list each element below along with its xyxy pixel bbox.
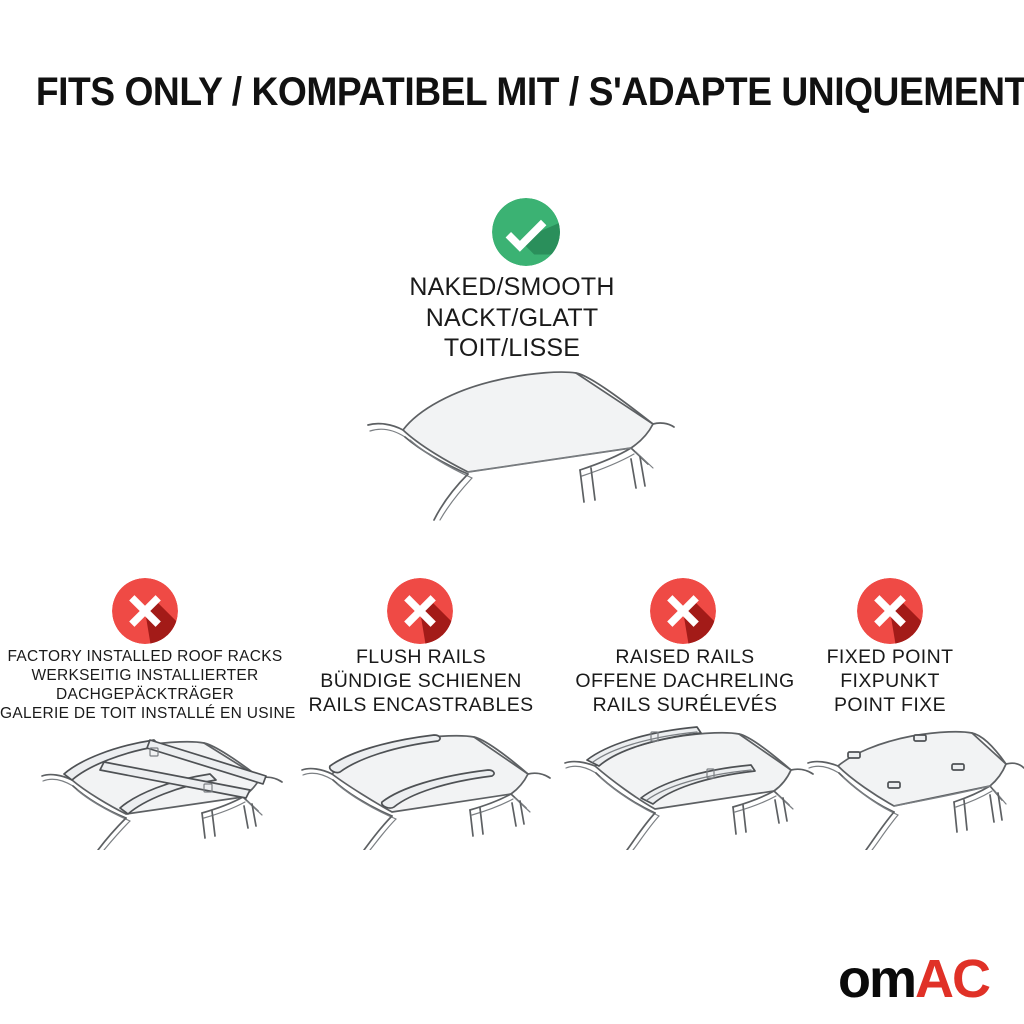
page-title: FITS ONLY / KOMPATIBEL MIT / S'ADAPTE UN… [36,70,988,115]
logo-text-om: om [838,949,915,1009]
caption-line-fr: POINT FIXE [800,694,980,718]
car-roof-raised-rails-illustration [557,722,825,850]
x-circle-icon [650,578,716,644]
caption-flush-rails: FLUSH RAILS BÜNDIGE SCHIENEN RAILS ENCAS… [290,646,552,717]
logo-text-ac: AC [915,949,989,1009]
car-roof-factory-racks-illustration [22,722,290,850]
caption-line-en: FACTORY INSTALLED ROOF RACKS [0,648,290,667]
caption-line-en: NAKED/SMOOTH [0,272,1024,303]
x-circle-icon [387,578,453,644]
caption-line-de2: DACHGEPÄCKTRÄGER [0,686,290,705]
caption-line-de: NACKT/GLATT [0,303,1024,334]
caption-line-de: FIXPUNKT [800,670,980,694]
caption-line-en: FLUSH RAILS [290,646,552,670]
caption-raised-rails: RAISED RAILS OFFENE DACHRELING RAILS SUR… [550,646,820,717]
car-roof-fixed-point-illustration [802,722,1024,850]
caption-line-de1: WERKSEITIG INSTALLIERTER [0,667,290,686]
caption-line-fr: GALERIE DE TOIT INSTALLÉ EN USINE [0,705,290,724]
caption-factory-installed-roof-racks: FACTORY INSTALLED ROOF RACKS WERKSEITIG … [0,648,290,724]
car-roof-flush-rails-illustration [292,722,560,850]
caption-line-de: BÜNDIGE SCHIENEN [290,670,552,694]
caption-line-de: OFFENE DACHRELING [550,670,820,694]
caption-line-fr: TOIT/LISSE [0,333,1024,364]
caption-line-en: RAISED RAILS [550,646,820,670]
car-roof-naked-smooth-illustration [348,362,682,522]
caption-line-fr: RAILS ENCASTRABLES [290,694,552,718]
caption-line-en: FIXED POINT [800,646,980,670]
caption-fixed-point: FIXED POINT FIXPUNKT POINT FIXE [800,646,980,717]
caption-line-fr: RAILS SURÉLEVÉS [550,694,820,718]
check-circle-icon [492,198,560,266]
x-circle-icon [112,578,178,644]
x-circle-icon [857,578,923,644]
caption-naked-smooth: NAKED/SMOOTH NACKT/GLATT TOIT/LISSE [0,272,1024,364]
omac-logo: omAC [838,952,989,1006]
compatibility-infographic: FITS ONLY / KOMPATIBEL MIT / S'ADAPTE UN… [0,0,1024,1024]
